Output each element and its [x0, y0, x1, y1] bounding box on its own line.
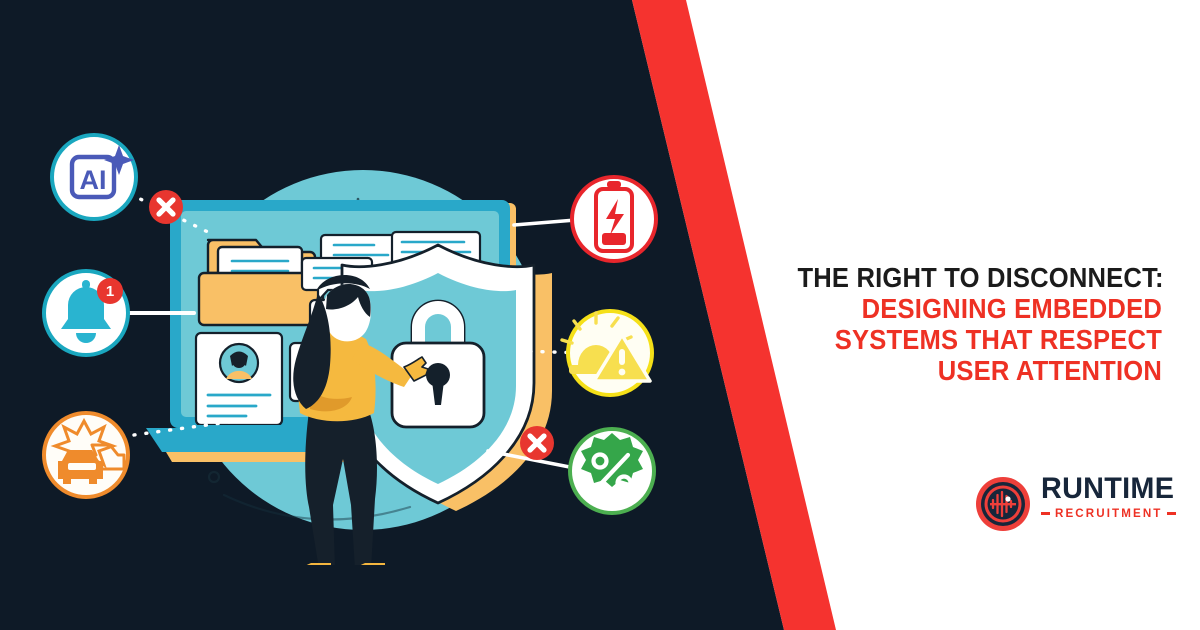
logo-tagline-row: RECRUITMENT [1041, 507, 1165, 520]
disconnect-marker-top [149, 190, 183, 224]
badge-battery [572, 177, 656, 261]
headline-line-2: DESIGNING EMBEDDED [797, 293, 1162, 324]
logo-wordmark: RUNTIME [1041, 472, 1160, 506]
disconnect-marker-bottom [520, 426, 554, 460]
headline-line-1: THE RIGHT TO DISCONNECT: [797, 262, 1162, 293]
poster-canvas: AI 1 [0, 0, 1200, 630]
profile-card [196, 333, 282, 425]
svg-text:1: 1 [106, 283, 114, 300]
headline-line-3: SYSTEMS THAT RESPECT [797, 324, 1162, 355]
badge-notification: 1 [44, 271, 128, 355]
digital-privacy-shield-illustration: AI 1 [18, 95, 678, 565]
badge-alert [562, 311, 652, 395]
runtime-waveform-mark [975, 476, 1031, 532]
logo-dash-right [1167, 512, 1176, 515]
headline-line-4: USER ATTENTION [797, 355, 1162, 386]
headline-block: THE RIGHT TO DISCONNECT: DESIGNING EMBED… [770, 262, 1162, 386]
logo-text-block: RUNTIME RECRUITMENT [1041, 472, 1165, 520]
logo-dash-left [1041, 512, 1050, 515]
svg-text:AI: AI [80, 165, 107, 195]
badge-car-crash [44, 413, 128, 497]
badge-ai: AI [52, 135, 136, 219]
runtime-recruitment-logo[interactable]: RUNTIME RECRUITMENT [975, 472, 1165, 540]
logo-tagline: RECRUITMENT [1055, 507, 1162, 520]
badge-discount [570, 429, 654, 513]
